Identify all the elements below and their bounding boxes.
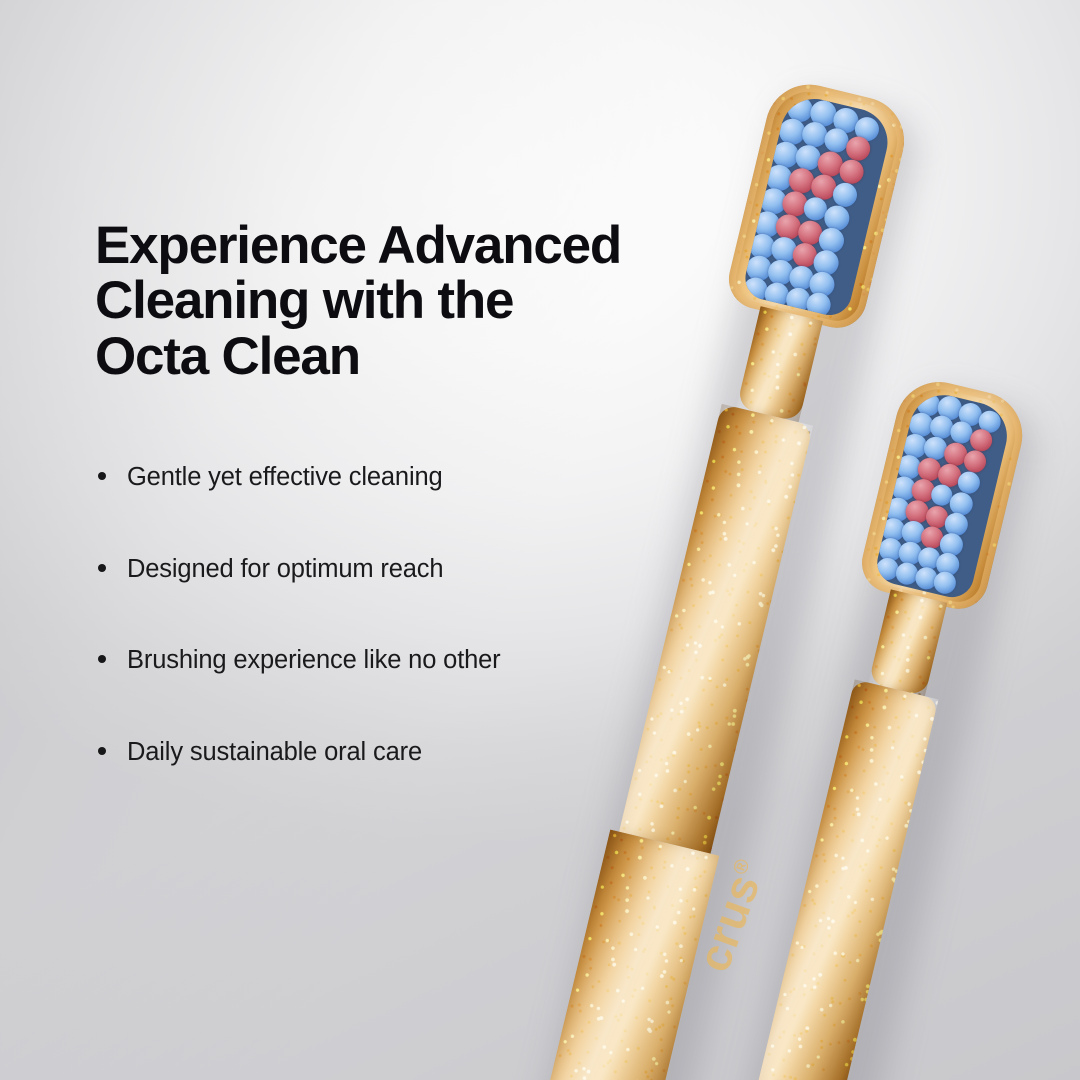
brush-head-back [856, 373, 1031, 615]
list-item-label: Daily sustainable oral care [127, 738, 422, 766]
list-item: Designed for optimum reach [95, 554, 695, 585]
brush-neck-front [736, 306, 823, 422]
list-item: Daily sustainable oral care [95, 737, 695, 768]
feature-list: Gentle yet effective cleaning Designed f… [95, 462, 695, 767]
brush-handle-back [757, 679, 939, 1080]
copy-block: Experience Advanced Cleaning with the Oc… [95, 218, 695, 768]
bullet-dot-icon [98, 564, 106, 572]
bullet-dot-icon [98, 747, 106, 755]
bullet-dot-icon [98, 472, 106, 480]
page-title: Experience Advanced Cleaning with the Oc… [95, 218, 695, 384]
brush-neck-back [868, 589, 947, 696]
list-item: Brushing experience like no other [95, 645, 695, 676]
list-item-label: Designed for optimum reach [127, 555, 443, 583]
bullet-dot-icon [98, 655, 106, 663]
list-item: Gentle yet effective cleaning [95, 462, 695, 493]
list-item-label: Gentle yet effective cleaning [127, 463, 443, 491]
product-poster: crus® Experience Advanced Cleaning with … [0, 0, 1080, 1080]
list-item-label: Brushing experience like no other [127, 646, 501, 674]
brush-head-front [723, 76, 913, 334]
